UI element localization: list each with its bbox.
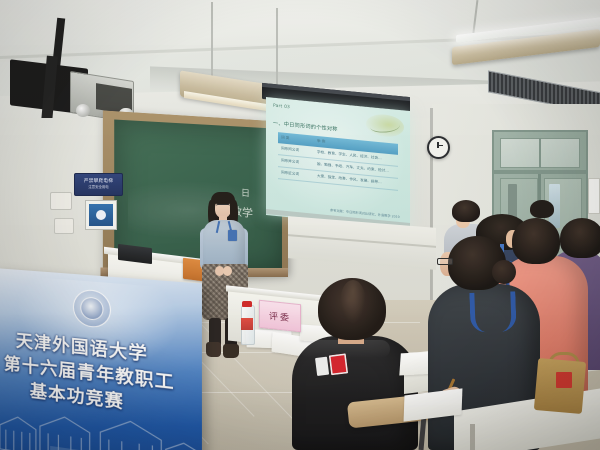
judge-sign: 评委	[259, 300, 301, 332]
judge-fleece-lanyard	[469, 291, 516, 333]
presenter-glasses	[216, 204, 230, 209]
presenter-badge	[228, 230, 237, 241]
projector-lens	[76, 104, 90, 117]
slide-td-label-2: 同形近义词	[278, 170, 314, 179]
presenter-hand-right	[223, 266, 232, 276]
presenter-boot-left	[206, 342, 221, 357]
pendant-rod-1	[211, 2, 213, 80]
judge-fleece-hair-bun	[492, 260, 516, 284]
safety-sign-line1: 严禁攀爬电梯	[84, 180, 113, 185]
wall-outlet-upper[interactable]	[50, 192, 72, 210]
judge-salmon-hair	[512, 218, 560, 264]
safety-sign: 严禁攀爬电梯 注意安全用电	[74, 173, 123, 196]
water-bottle-cap	[242, 301, 252, 307]
pendant-rod-2	[276, 8, 278, 84]
slide-td-label-0: 同形同义词	[278, 146, 314, 155]
handbag-tag	[556, 372, 572, 388]
logo-white-block	[315, 357, 329, 376]
wall-clock	[427, 136, 450, 159]
classroom-photo: 日 教学 严禁攀爬电梯 注意安全用电 Part 03 一、中日同形词的个性对称 …	[0, 0, 600, 450]
event-banner: 天津外国语大学 第十六届青年教职工 基本功竞赛	[0, 268, 202, 450]
logo-red-block	[329, 353, 348, 375]
judge-sign-label: 评委	[269, 308, 291, 323]
projection-screen: Part 03 一、中日同形词的个性对称 词 类 举 例 同形同义词 学校、教育…	[266, 97, 410, 229]
judge-back-row-hair	[452, 200, 480, 222]
clock-minute-hand	[437, 145, 443, 146]
judge-fleece-glasses	[437, 258, 453, 265]
slide-th-0: 词 类	[278, 135, 314, 144]
presenter-blouse	[203, 220, 245, 269]
door-transom-mullion	[539, 138, 541, 168]
power-switch-plate[interactable]	[85, 200, 117, 230]
power-disc-icon	[96, 210, 106, 220]
wall-outlet-lower[interactable]	[54, 218, 74, 234]
power-switch-icon	[89, 204, 113, 226]
slide-td-label-1: 同形异义词	[278, 158, 314, 167]
presenter-boot-right	[223, 344, 239, 358]
attendee-hair-part	[340, 280, 366, 324]
chalk-text-1: 日	[241, 185, 250, 199]
crest-inner-ring	[80, 296, 103, 321]
right-desk-leg	[470, 424, 475, 450]
judge-rear-hair	[530, 200, 554, 218]
jacket-logo-patch	[315, 353, 351, 377]
door-notice-paper	[588, 178, 600, 214]
safety-sign-line2: 注意安全用电	[88, 186, 108, 190]
judge-purple-hair	[560, 218, 600, 258]
water-bottle-label	[241, 318, 253, 330]
